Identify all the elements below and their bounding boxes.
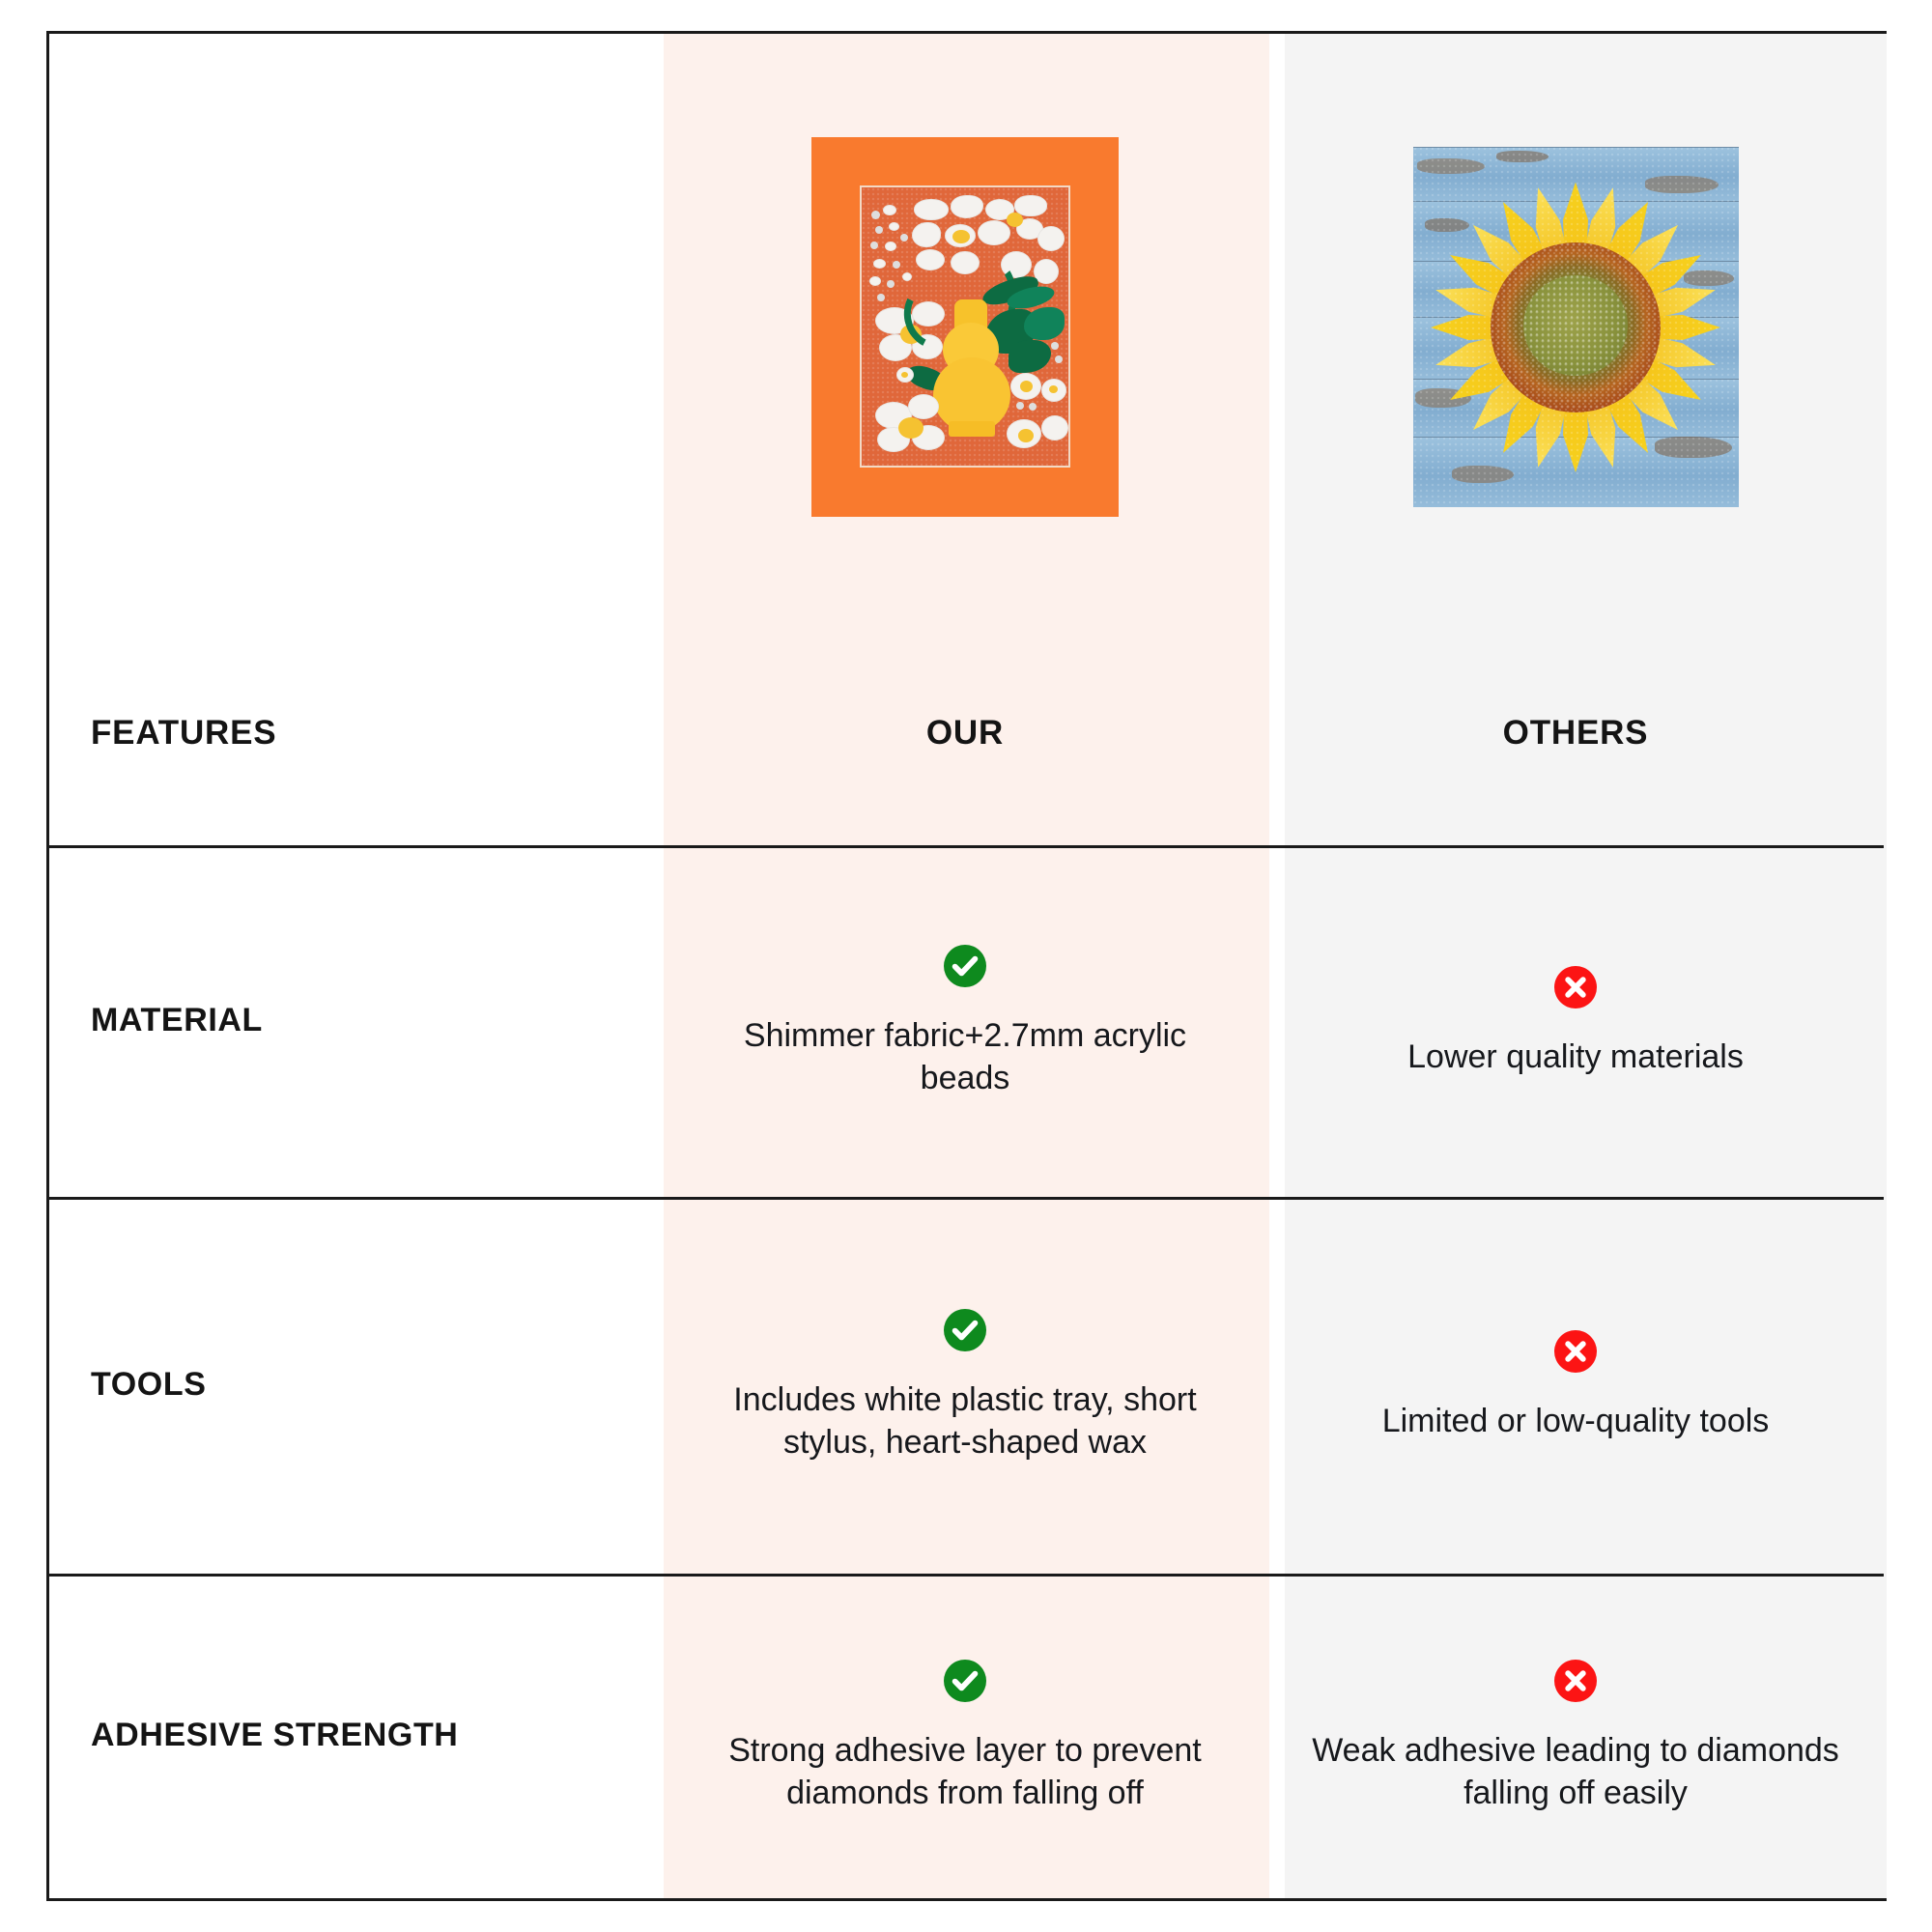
our-value-cell: Includes white plastic tray, short stylu… [663, 1197, 1267, 1574]
others-value-cell: Limited or low-quality tools [1267, 1197, 1884, 1574]
cross-circle-icon [1552, 964, 1599, 1010]
check-circle-icon [942, 1658, 988, 1704]
comparison-table: FEATURES OUR OTHERS MATERIAL [46, 31, 1887, 1901]
our-product-image-cell [663, 34, 1267, 620]
our-header-cell: OUR [663, 620, 1267, 845]
our-value-text: Strong adhesive layer to prevent diamond… [696, 1729, 1235, 1814]
others-header-cell: OTHERS [1267, 620, 1884, 845]
media-spacer-cell [49, 34, 663, 620]
our-value-text: Shimmer fabric+2.7mm acrylic beads [696, 1014, 1235, 1099]
feature-name-cell: ADHESIVE STRENGTH [49, 1574, 663, 1898]
others-value-cell: Lower quality materials [1267, 845, 1884, 1197]
our-product-artwork [811, 137, 1119, 517]
cross-circle-icon [1552, 1328, 1599, 1375]
others-header-label: OTHERS [1503, 714, 1649, 753]
feature-label: ADHESIVE STRENGTH [91, 1715, 458, 1757]
table-row: ADHESIVE STRENGTH Strong adhesive layer … [49, 1574, 1884, 1898]
others-value-cell: Weak adhesive leading to diamonds fallin… [1267, 1574, 1884, 1898]
others-product-artwork [1413, 147, 1739, 507]
cross-circle-icon [1552, 1658, 1599, 1704]
features-header-label: FEATURES [91, 714, 276, 753]
table-header-row: FEATURES OUR OTHERS [49, 620, 1884, 845]
our-value-cell: Shimmer fabric+2.7mm acrylic beads [663, 845, 1267, 1197]
others-product-image-cell [1267, 34, 1884, 620]
table-row: TOOLS Includes white plastic tray, short… [49, 1197, 1884, 1574]
table-row: MATERIAL Shimmer fabric+2.7mm acrylic be… [49, 845, 1884, 1197]
feature-label: TOOLS [91, 1364, 207, 1406]
our-value-text: Includes white plastic tray, short stylu… [696, 1378, 1235, 1463]
others-value-text: Limited or low-quality tools [1382, 1400, 1770, 1442]
comparison-table-page: FEATURES OUR OTHERS MATERIAL [0, 0, 1932, 1932]
check-circle-icon [942, 943, 988, 989]
others-value-text: Lower quality materials [1407, 1036, 1744, 1078]
feature-name-cell: TOOLS [49, 1197, 663, 1574]
product-image-row [49, 34, 1884, 620]
our-header-label: OUR [926, 714, 1004, 753]
features-header-cell: FEATURES [49, 620, 663, 845]
check-circle-icon [942, 1307, 988, 1353]
others-value-text: Weak adhesive leading to diamonds fallin… [1305, 1729, 1846, 1814]
feature-label: MATERIAL [91, 1000, 263, 1042]
our-value-cell: Strong adhesive layer to prevent diamond… [663, 1574, 1267, 1898]
feature-name-cell: MATERIAL [49, 845, 663, 1197]
